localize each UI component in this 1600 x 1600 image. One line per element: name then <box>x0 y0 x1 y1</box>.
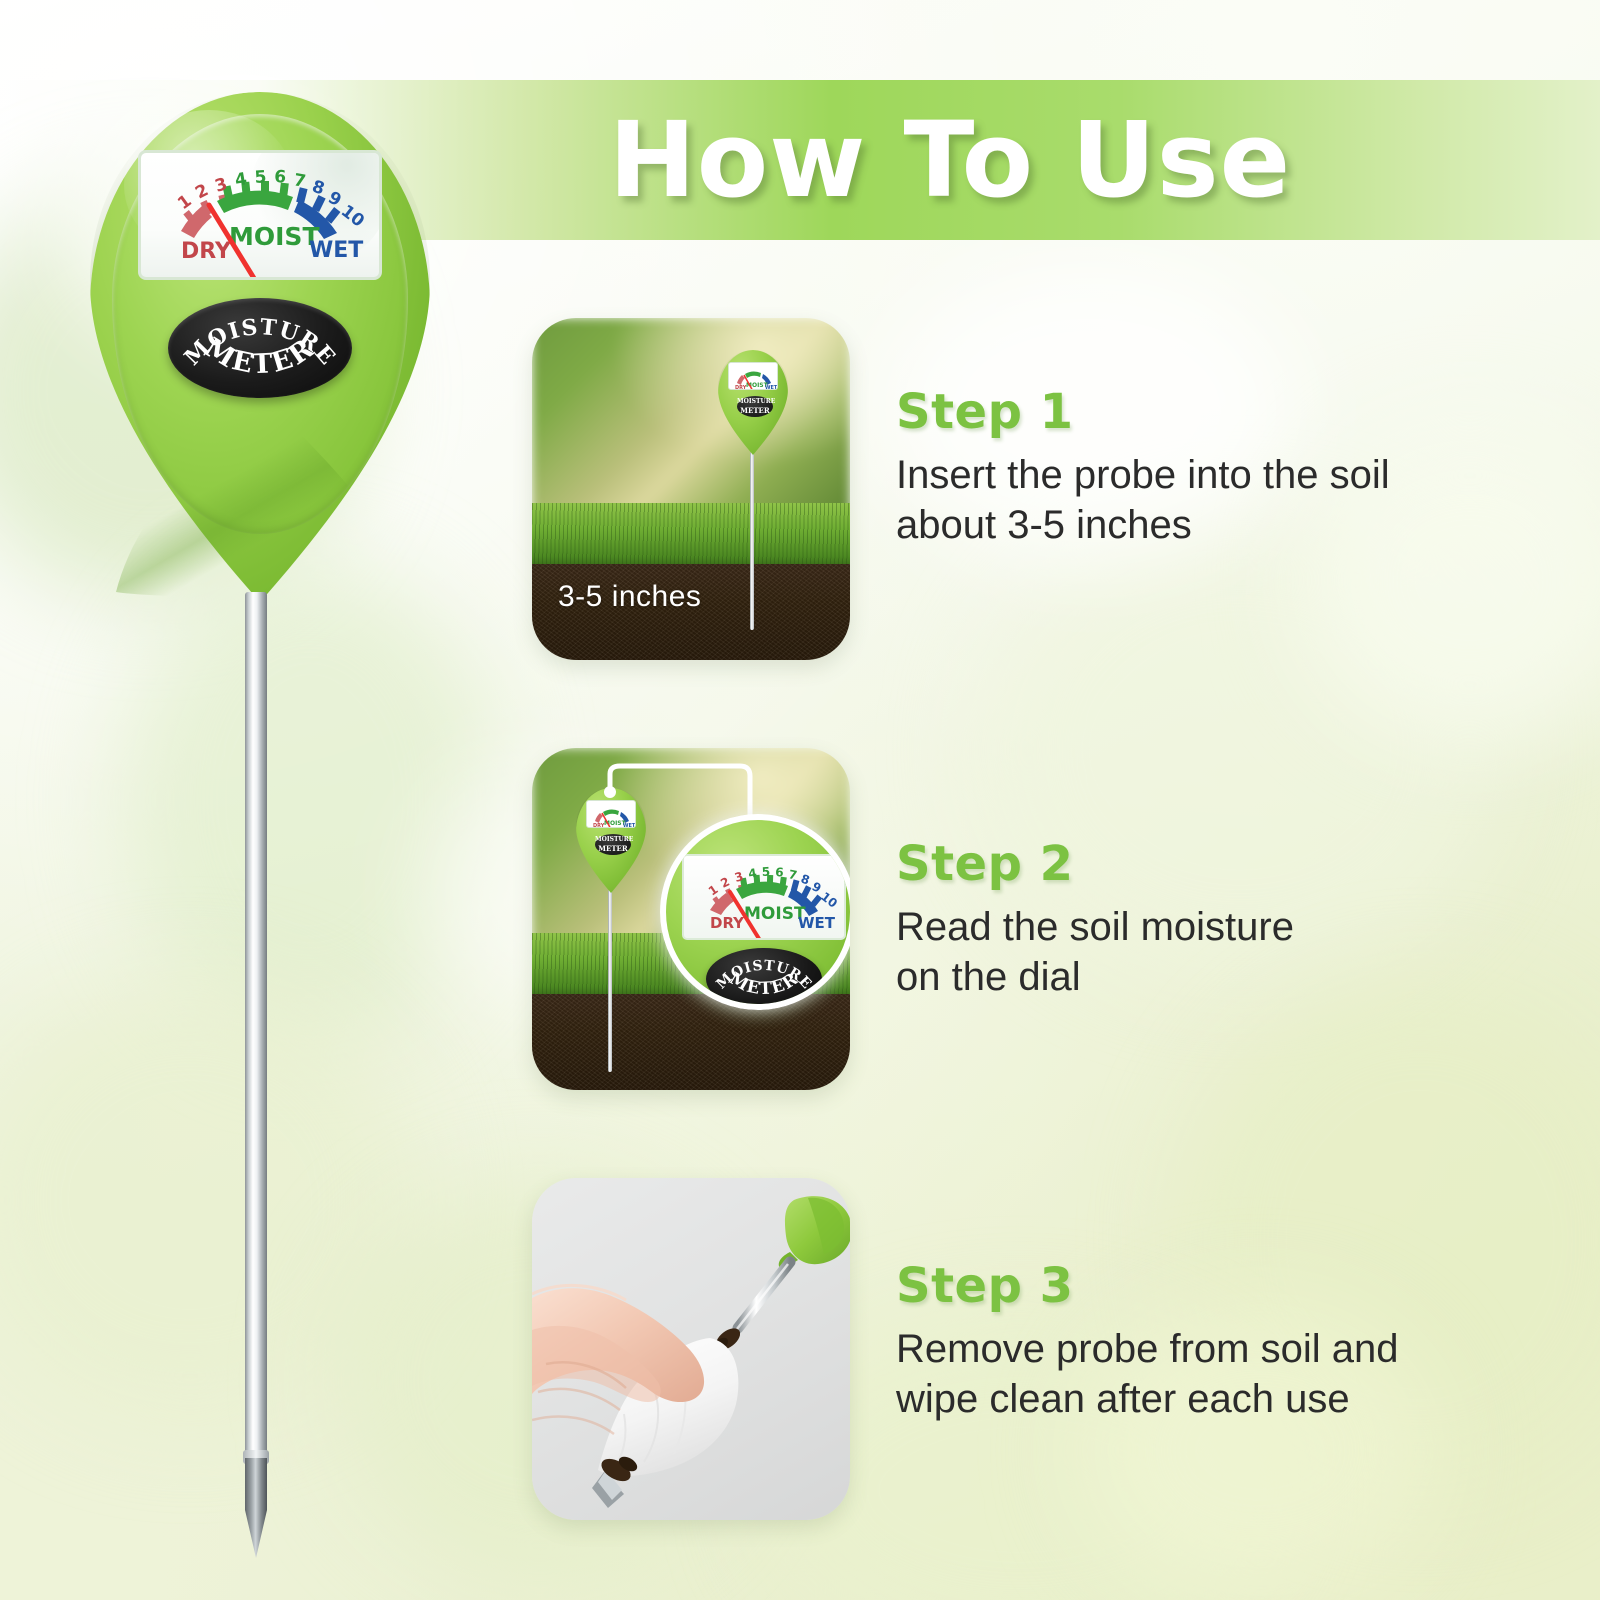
svg-text:WET: WET <box>798 914 836 932</box>
svg-text:3: 3 <box>733 869 745 885</box>
depth-caption: 3-5 inches <box>558 580 701 614</box>
mini-dial: DRY MOIST WET <box>728 362 778 390</box>
metal-probe <box>737 1262 790 1329</box>
mini-badge-line-1: MOISTURE <box>737 398 773 405</box>
step-1-body-line-1: Insert the probe into the soil <box>896 450 1536 500</box>
mini-badge: MOISTURE METER <box>737 396 773 417</box>
svg-text:6: 6 <box>775 865 784 880</box>
mini-badge-line-2: METER <box>737 406 773 415</box>
svg-text:9: 9 <box>810 879 824 895</box>
mini-meter: DRY MOIST WET MOISTURE METER <box>718 350 788 455</box>
mini-probe <box>750 452 754 630</box>
blurred-background-photo <box>532 318 850 530</box>
step-3-text: Step 3 Remove probe from soil and wipe c… <box>896 1258 1536 1425</box>
svg-text:DRY: DRY <box>735 385 747 390</box>
svg-text:5: 5 <box>761 865 770 879</box>
step-3-label: Step 3 <box>896 1258 1536 1314</box>
magnified-badge: MOISTURE METER <box>706 948 822 1010</box>
svg-text:DRY: DRY <box>710 914 745 932</box>
svg-text:WET: WET <box>765 385 778 390</box>
step-1-text: Step 1 Insert the probe into the soil ab… <box>896 384 1536 551</box>
svg-text:MOIST: MOIST <box>744 904 806 924</box>
svg-text:10: 10 <box>818 889 840 910</box>
step-3-panel <box>532 1178 850 1520</box>
magnified-dial: 1 2 3 4 5 6 7 8 9 10 DRY MOIST <box>682 854 846 940</box>
dial-magnifier: 1 2 3 4 5 6 7 8 9 10 DRY MOIST <box>660 814 850 1010</box>
step-2-panel: DRY MOIST WET MOISTURE METER <box>532 748 850 1090</box>
probe-tip-dirty <box>592 1454 640 1508</box>
step-1-body-line-2: about 3-5 inches <box>896 500 1536 550</box>
step-3-body-line-1: Remove probe from soil and <box>896 1324 1536 1374</box>
step-2-body-line-2: on the dial <box>896 952 1536 1002</box>
step-1-panel: DRY MOIST WET MOISTURE METER 3-5 inches <box>532 318 850 660</box>
grass-layer <box>532 503 850 571</box>
step-3-body-line-2: wipe clean after each use <box>896 1374 1536 1424</box>
step-2-text: Step 2 Read the soil moisture on the dia… <box>896 836 1536 1003</box>
svg-text:1: 1 <box>706 882 721 898</box>
step-2-body-line-1: Read the soil moisture <box>896 902 1536 952</box>
svg-text:2: 2 <box>718 874 731 890</box>
step-1-label: Step 1 <box>896 384 1536 440</box>
svg-text:8: 8 <box>799 872 811 888</box>
svg-text:4: 4 <box>747 866 757 881</box>
step-2-label: Step 2 <box>896 836 1536 892</box>
